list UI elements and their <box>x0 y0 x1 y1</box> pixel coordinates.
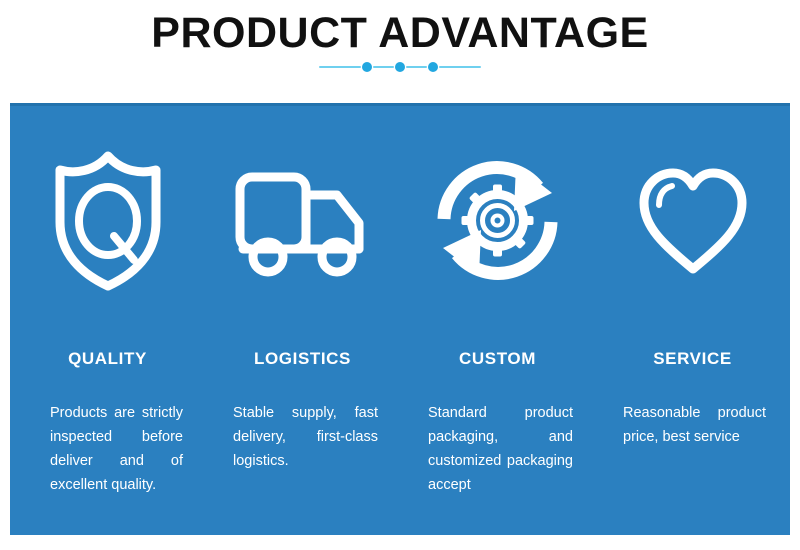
page-title: PRODUCT ADVANTAGE <box>0 8 800 58</box>
advantage-title: LOGISTICS <box>205 349 400 369</box>
advantage-title: SERVICE <box>595 349 790 369</box>
heart-icon <box>595 148 790 293</box>
advantage-description: Reasonable product price, best service <box>595 401 790 449</box>
divider-line-right <box>439 66 481 68</box>
divider-dot-3 <box>428 62 438 72</box>
advantage-column-service: SERVICE Reasonable product price, best s… <box>595 106 790 538</box>
advantage-panel: QUALITY Products are strictly inspected … <box>10 103 790 535</box>
divider-dot-1 <box>362 62 372 72</box>
advantage-column-logistics: LOGISTICS Stable supply, fast delivery, … <box>205 106 400 538</box>
advantage-title: QUALITY <box>10 349 205 369</box>
advantage-columns: QUALITY Products are strictly inspected … <box>10 106 790 538</box>
banner-header: PRODUCT ADVANTAGE <box>0 0 800 100</box>
advantage-description: Stable supply, fast delivery, first-clas… <box>205 401 400 473</box>
divider-line-left <box>319 66 361 68</box>
cycle-gear-icon <box>400 148 595 293</box>
product-advantage-banner: PRODUCT ADVANTAGE QUALI <box>0 0 800 550</box>
shield-quality-icon <box>10 148 205 293</box>
advantage-title: CUSTOM <box>400 349 595 369</box>
decorative-divider <box>319 62 481 72</box>
advantage-description: Products are strictly inspected before d… <box>10 401 205 497</box>
delivery-truck-icon <box>205 148 400 293</box>
advantage-description: Standard product packaging, and customiz… <box>400 401 595 497</box>
divider-line-mid-1 <box>373 66 394 68</box>
divider-line-mid-2 <box>406 66 427 68</box>
advantage-column-quality: QUALITY Products are strictly inspected … <box>10 106 205 538</box>
divider-dot-2 <box>395 62 405 72</box>
advantage-column-custom: CUSTOM Standard product packaging, and c… <box>400 106 595 538</box>
